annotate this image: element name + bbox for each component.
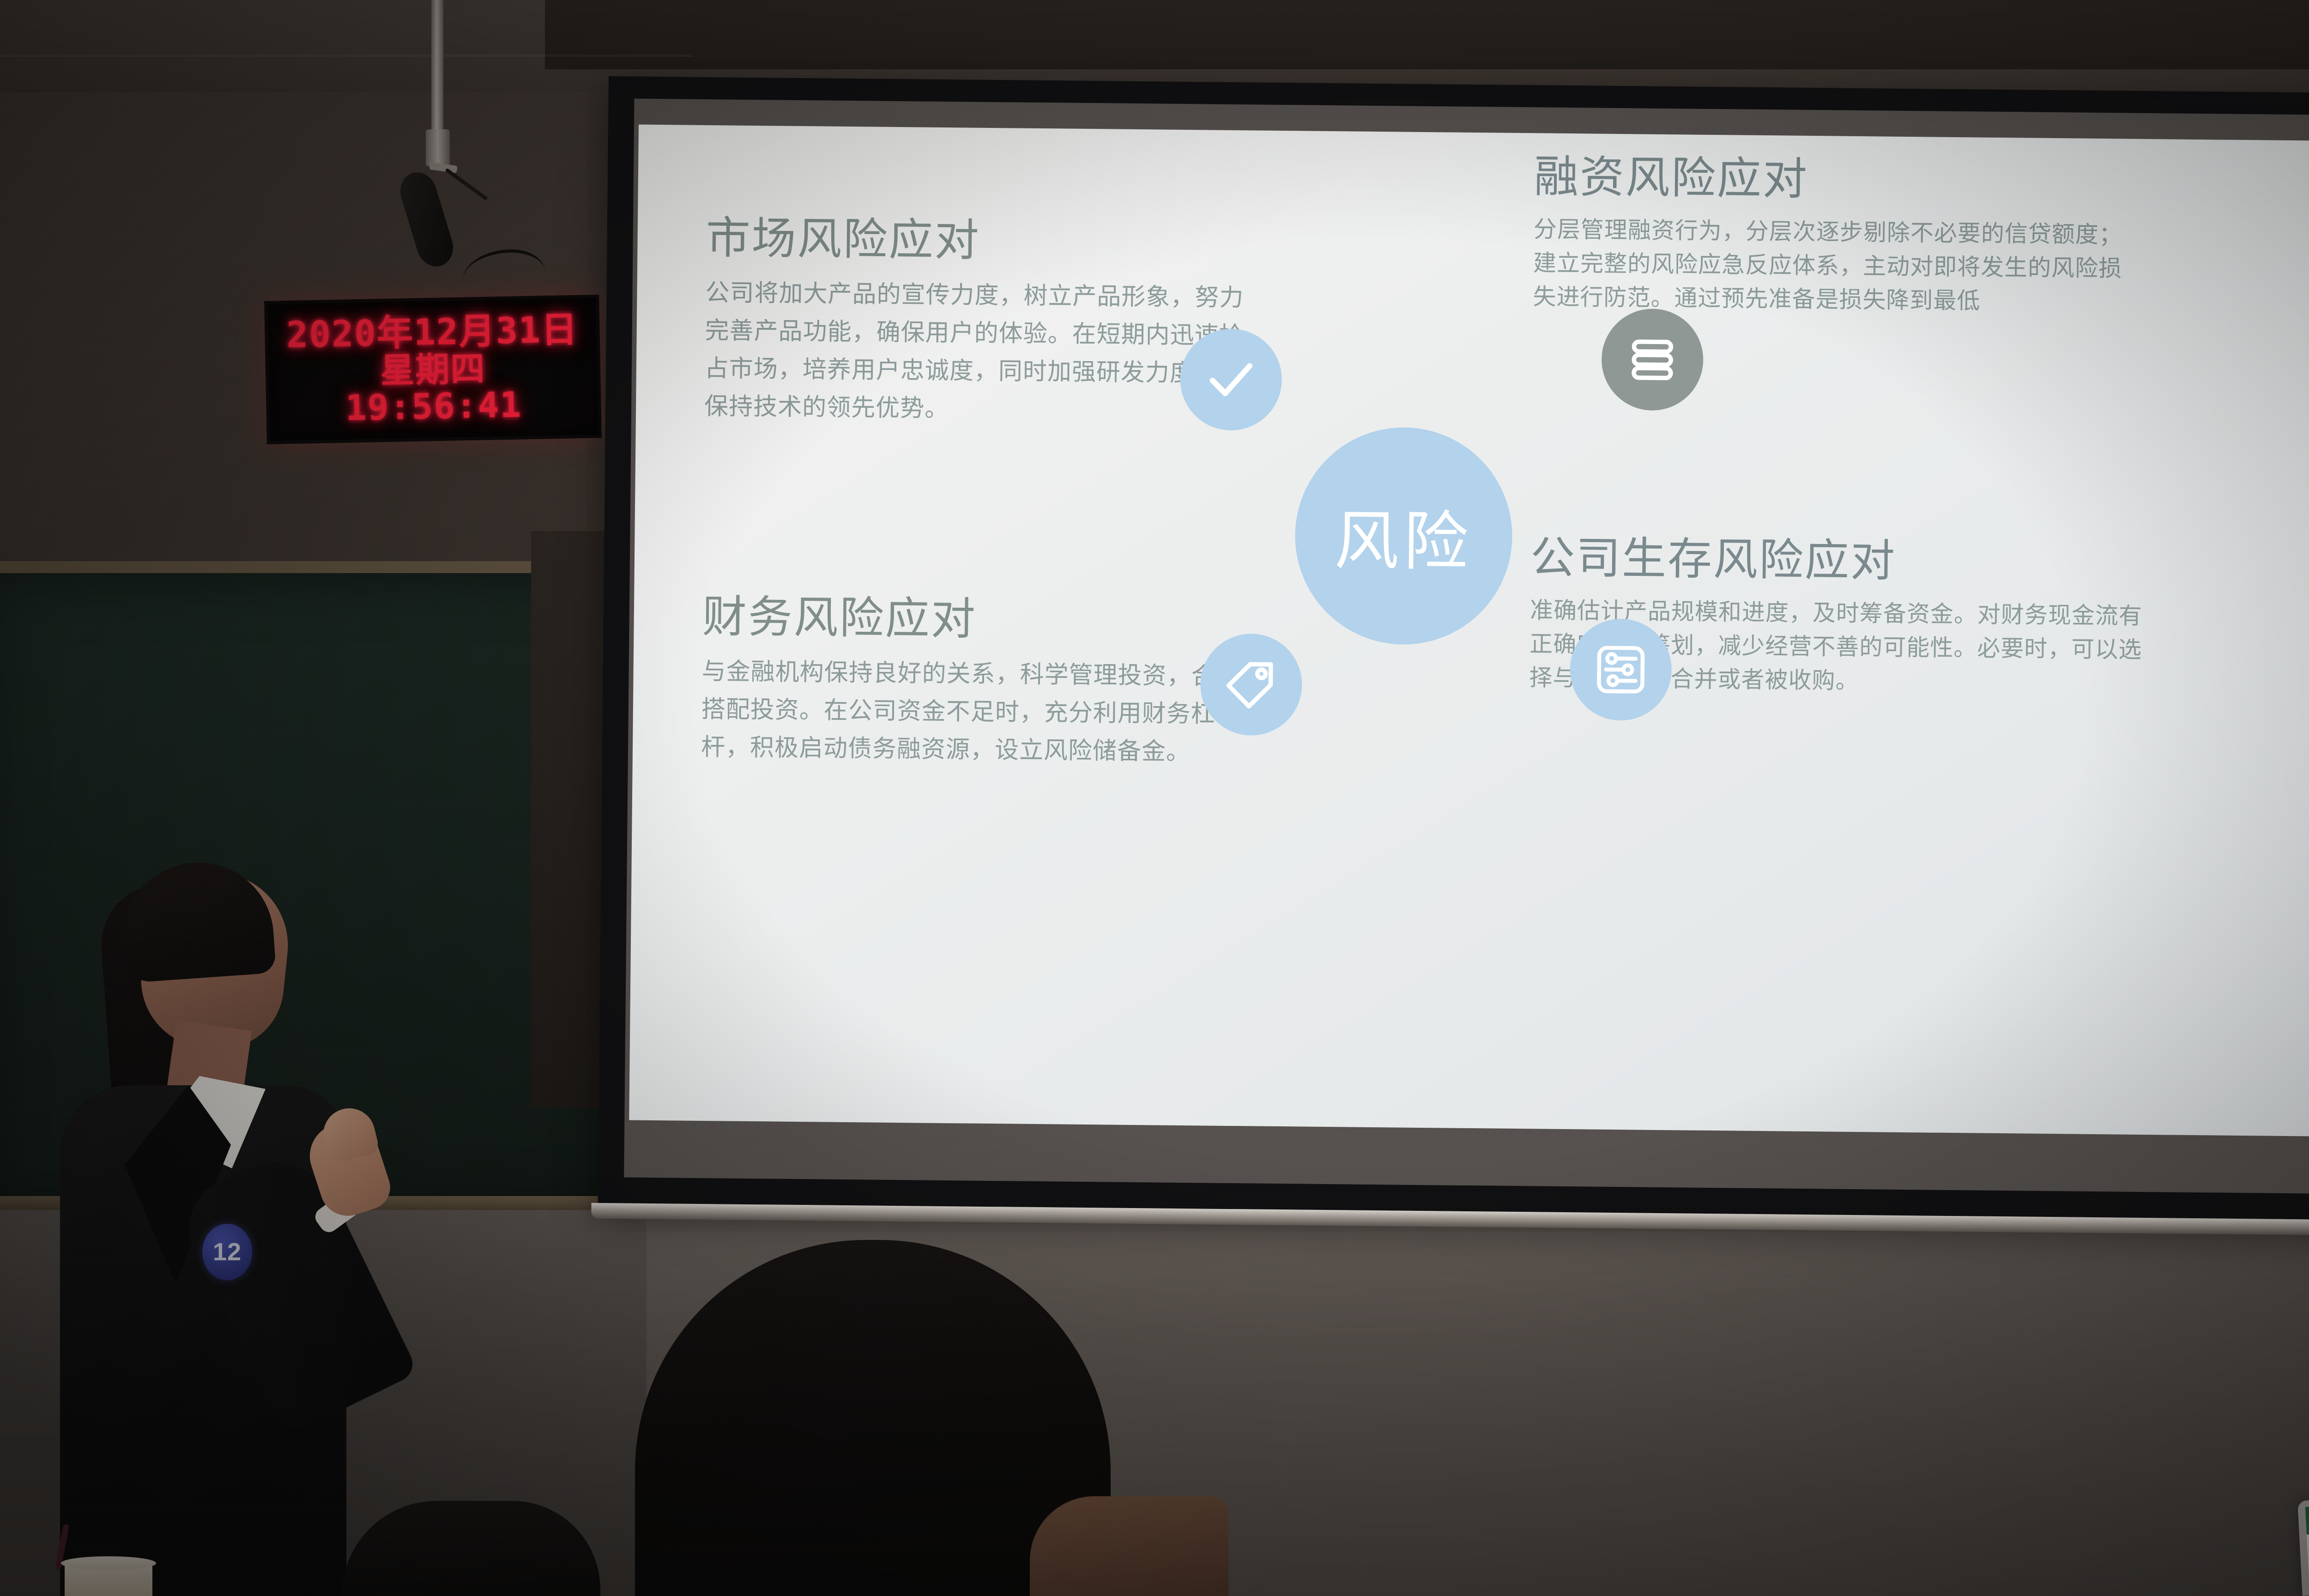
check-icon xyxy=(1180,328,1282,431)
microphone-joint xyxy=(426,129,450,166)
slide-body-market-risk: 公司将加大产品的宣传力度，树立产品形象，努力完善产品功能，确保用户的体验。在短期… xyxy=(704,274,1251,431)
led-clock-weekday: 星期四 xyxy=(380,351,486,389)
slide-block-market-risk: 市场风险应对 公司将加大产品的宣传力度，树立产品形象，努力完善产品功能，确保用户… xyxy=(704,215,1251,431)
slide-body-finance-risk: 与金融机构保持良好的关系，科学管理投资，合理搭配投资。在公司资金不足时，充分利用… xyxy=(701,653,1247,772)
presenter-number-badge: 12 xyxy=(202,1224,252,1280)
classroom-photo: 2020年12月31日 星期四 19:56:41 市场风险应对 公司将加大产品的… xyxy=(0,0,2309,1596)
slide-heading-survival-risk: 公司生存风险应对 xyxy=(1530,535,2159,587)
slide-heading-financing-risk: 融资风险应对 xyxy=(1534,154,2130,206)
layers-icon xyxy=(1601,308,1704,411)
slide-block-finance-risk: 财务风险应对 与金融机构保持良好的关系，科学管理投资，合理搭配投资。在公司资金不… xyxy=(701,594,1248,772)
audience-member-front-shoulder xyxy=(1030,1496,1228,1596)
ceiling-dark-area xyxy=(545,0,2309,69)
slide-hub-label: 风险 xyxy=(1334,489,1474,583)
paper-cup-rim xyxy=(61,1556,156,1570)
tag-icon xyxy=(1200,633,1302,736)
slide-heading-finance-risk: 财务风险应对 xyxy=(702,594,1247,646)
slide-center-hub: 风险 xyxy=(1294,426,1513,645)
wall-seam xyxy=(0,54,693,57)
slide-body-financing-risk: 分层管理融资行为，分层次逐步剔除不必要的信贷额度；建立完整的风险应急反应体系，主… xyxy=(1533,212,2129,319)
presenter-hair xyxy=(116,858,277,983)
led-clock-display: 2020年12月31日 星期四 19:56:41 xyxy=(264,295,602,444)
presenter: 12 xyxy=(28,827,490,1596)
presenter-badge-number: 12 xyxy=(213,1238,242,1266)
sliders-icon xyxy=(1570,618,1672,721)
projection-screen: 市场风险应对 公司将加大产品的宣传力度，树立产品形象，努力完善产品功能，确保用户… xyxy=(598,76,2309,1220)
led-clock-time: 19:56:41 xyxy=(345,387,522,427)
projected-slide: 市场风险应对 公司将加大产品的宣传力度，树立产品形象，努力完善产品功能，确保用户… xyxy=(629,125,2309,1137)
led-clock-date: 2020年12月31日 xyxy=(286,311,578,355)
slide-block-financing-risk: 融资风险应对 分层管理融资行为，分层次逐步剔除不必要的信贷额度；建立完整的风险应… xyxy=(1533,154,2130,319)
microphone-rod xyxy=(431,0,443,139)
slide-heading-market-risk: 市场风险应对 xyxy=(706,215,1251,267)
